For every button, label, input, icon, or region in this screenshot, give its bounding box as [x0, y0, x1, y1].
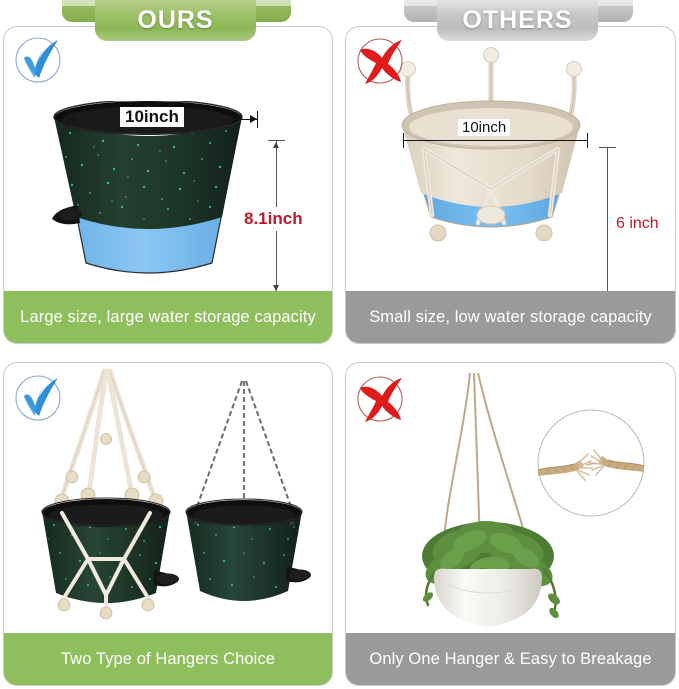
dimension-tick-left: [403, 133, 404, 148]
comparison-infographic: 10inch 8.1inch Large size, large water s…: [0, 0, 679, 689]
broken-rope-closeup-icon: [536, 408, 646, 518]
blue-check-icon: [10, 372, 68, 426]
ribbon-tail-highlight: [597, 0, 633, 6]
red-cross-icon: [352, 372, 410, 426]
dimension-arrow-up: [273, 142, 279, 148]
dimension-tick-right: [257, 111, 258, 128]
ribbon-tail-left-ours: [62, 0, 98, 22]
dimension-arrow-left: [69, 115, 76, 123]
ribbon-ours: OURS: [95, 0, 256, 41]
ribbon-tail-highlight: [404, 0, 440, 6]
red-cross-icon: [352, 34, 410, 88]
dimension-label-width: 10inch: [458, 119, 510, 136]
ribbon-tail-right-others: [597, 0, 633, 22]
dimension-label-height: 8.1inch: [241, 207, 306, 231]
dimension-tick-top: [268, 140, 285, 141]
dimension-arrow-right: [250, 115, 257, 123]
ribbon-tail-highlight: [62, 0, 98, 6]
ours-planter-illustration: [48, 101, 248, 291]
dimension-tick-top: [599, 147, 616, 148]
caption-others-size: Small size, low water storage capacity: [346, 291, 675, 343]
caption-others-hanger: Only One Hanger & Easy to Breakage: [346, 633, 675, 685]
dimension-tick-left: [67, 111, 68, 128]
ribbon-tail-left-others: [404, 0, 440, 22]
dimension-label-height: 6 inch: [616, 215, 659, 233]
ribbon-others: OTHERS: [437, 0, 598, 41]
broken-rope-inset: [536, 408, 646, 518]
chain-hanger-planter-illustration: [174, 377, 314, 627]
caption-ours-hangers: Two Type of Hangers Choice: [4, 633, 332, 685]
ribbon-others-label: OTHERS: [462, 6, 572, 35]
dimension-line-vertical: [607, 147, 608, 291]
blue-check-icon: [10, 34, 68, 88]
dimension-label-width: 10inch: [120, 107, 184, 127]
dimension-tick-right: [587, 133, 588, 148]
ribbon-ours-label: OURS: [137, 6, 213, 35]
ribbon-tail-right-ours: [255, 0, 291, 22]
caption-ours-size: Large size, large water storage capacity: [4, 291, 332, 343]
dimension-line-horizontal: [403, 140, 588, 141]
ribbon-tail-highlight: [255, 0, 291, 6]
